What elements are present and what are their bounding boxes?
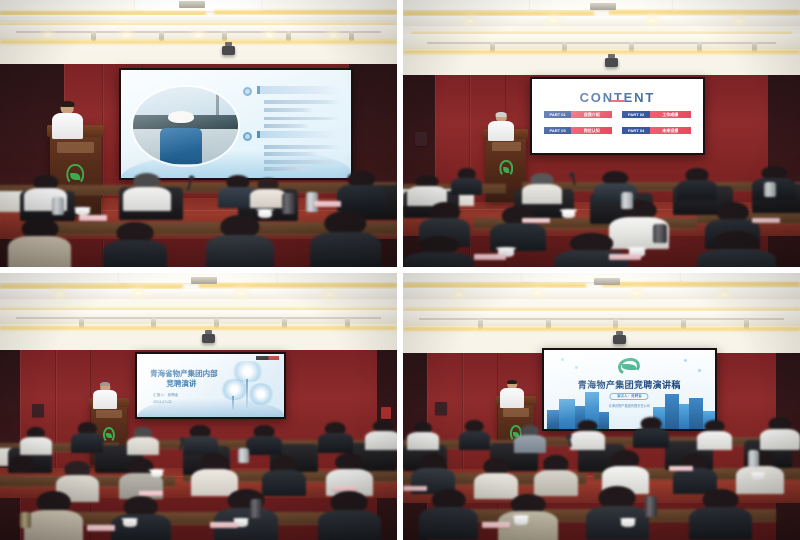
projector-icon: [605, 58, 618, 67]
ceiling: [0, 0, 397, 69]
ceiling-vent-icon: [179, 1, 205, 8]
slide-content-agenda: CONTENT PART 01 自我介绍 PART 02 工作成绩: [532, 79, 703, 152]
ceiling: [403, 0, 800, 80]
speaker-person: [93, 382, 117, 409]
conference-room-scene: 青海物产集团竞聘演讲稿 演讲人：竞聘者 青海省物产集团有限责任公司: [403, 273, 800, 540]
agenda-item: PART 04 未来设想: [622, 127, 690, 134]
audience-area: [0, 150, 397, 267]
slide-corner-tag: [256, 356, 279, 360]
agenda-part-number: PART 03: [544, 127, 571, 134]
agenda-part-label: 工作成绩: [650, 111, 691, 118]
company-logo-icon: [618, 358, 640, 375]
collage-panel-bottom-right: 青海物产集团竞聘演讲稿 演讲人：竞聘者 青海省物产集团有限责任公司: [400, 270, 800, 540]
dandelion-graphic: [216, 359, 275, 410]
projector-icon: [613, 335, 626, 344]
slide-title-line2: 竞聘演讲: [166, 378, 196, 389]
conference-room-scene: [0, 0, 397, 267]
agenda-part-label: 岗位认知: [571, 127, 612, 134]
audience-area: [0, 412, 397, 540]
speaker-person: [500, 380, 524, 408]
ceiling-vent-icon: [594, 278, 620, 285]
speaker-person: [52, 101, 84, 138]
slide-title: CONTENT: [532, 90, 703, 105]
slide-subtitle-date: 2024-07-02: [153, 400, 171, 404]
collage-panel-top-left: [0, 0, 400, 270]
audience-area: [403, 412, 800, 540]
ceiling: [403, 273, 800, 358]
slide-title-inkwash: 青海省物产集团内部 竞聘演讲 汇报人：竞聘者 2024-07-02: [137, 354, 284, 417]
agenda-part-number: PART 01: [544, 111, 571, 118]
speaker-person: [488, 112, 514, 141]
ceiling: [0, 273, 397, 356]
audience-area: [403, 155, 800, 267]
ceiling-vent-icon: [590, 3, 616, 10]
agenda-item: PART 03 岗位认知: [544, 127, 612, 134]
agenda-part-number: PART 02: [622, 111, 649, 118]
collage-panel-bottom-left: 青海省物产集团内部 竞聘演讲 汇报人：竞聘者 2024-07-02: [0, 270, 400, 540]
agenda-part-label: 自我介绍: [571, 111, 612, 118]
projector-icon: [202, 334, 215, 343]
agenda-part-label: 未来设想: [650, 127, 691, 134]
ceiling-vent-icon: [191, 277, 217, 284]
agenda-item: PART 02 工作成绩: [622, 111, 690, 118]
slide-subtitle-presenter: 汇报人：竞聘者: [153, 393, 178, 398]
photo-collage: CONTENT PART 01 自我介绍 PART 02 工作成绩: [0, 0, 800, 540]
conference-room-scene: CONTENT PART 01 自我介绍 PART 02 工作成绩: [403, 0, 800, 267]
agenda-part-number: PART 04: [622, 127, 649, 134]
projector-icon: [222, 46, 235, 55]
projection-screen: CONTENT PART 01 自我介绍 PART 02 工作成绩: [530, 77, 705, 154]
collage-panel-top-right: CONTENT PART 01 自我介绍 PART 02 工作成绩: [400, 0, 800, 270]
projection-screen: 青海省物产集团内部 竞聘演讲 汇报人：竞聘者 2024-07-02: [135, 352, 286, 419]
conference-room-scene: 青海省物产集团内部 竞聘演讲 汇报人：竞聘者 2024-07-02: [0, 273, 397, 540]
agenda-item: PART 01 自我介绍: [544, 111, 612, 118]
title-underline: [611, 100, 625, 102]
